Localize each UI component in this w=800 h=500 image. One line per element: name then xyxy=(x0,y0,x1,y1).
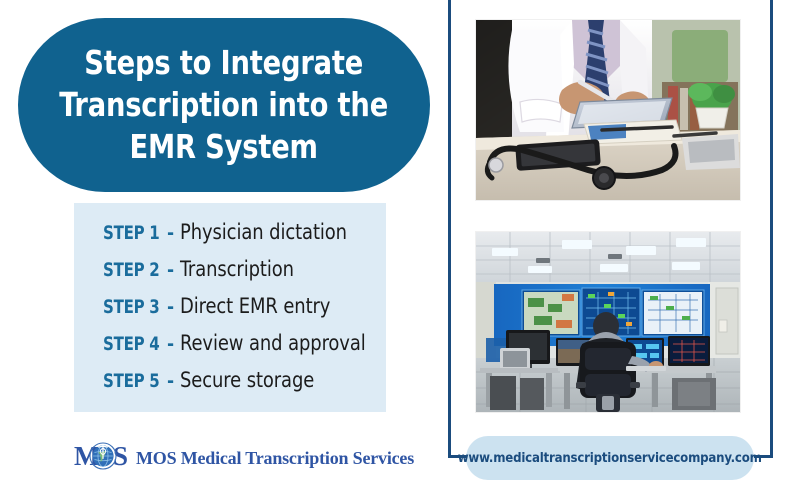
step-dash: - xyxy=(167,296,180,318)
steps-panel: STEP 1 - Physician dictation STEP 2 - Tr… xyxy=(74,203,386,412)
step-text: Review and approval xyxy=(180,331,366,355)
step-dash: - xyxy=(167,370,180,392)
brand-logo: M S MOS Medical Transcription Services xyxy=(74,440,414,476)
step-dash: - xyxy=(167,333,180,355)
step-text: Physician dictation xyxy=(180,220,347,244)
logo-name: MOS Medical Transcription Services xyxy=(136,448,414,469)
step-row: STEP 2 - Transcription xyxy=(103,257,386,294)
control-room-photo xyxy=(476,232,740,412)
frame-left-vertical-line xyxy=(448,0,451,458)
page-title: Steps to Integrate Transcription into th… xyxy=(60,42,389,169)
step-text: Secure storage xyxy=(180,368,314,392)
step-text: Direct EMR entry xyxy=(180,294,330,318)
step-row: STEP 1 - Physician dictation xyxy=(103,220,386,257)
frame-right-vertical-line xyxy=(770,0,773,458)
step-row: STEP 5 - Secure storage xyxy=(103,368,386,405)
doctor-with-tablet-photo xyxy=(476,20,740,200)
title-pill: Steps to Integrate Transcription into th… xyxy=(18,18,430,192)
step-dash: - xyxy=(167,222,180,244)
step-label: STEP 2 xyxy=(103,259,159,281)
step-label: STEP 5 xyxy=(103,370,159,392)
step-row: STEP 4 - Review and approval xyxy=(103,331,386,368)
step-label: STEP 4 xyxy=(103,333,159,355)
logo-mark: M S xyxy=(74,440,132,476)
website-url-pill[interactable]: www.medicaltranscriptionservicecompany.c… xyxy=(466,436,754,480)
step-label: STEP 3 xyxy=(103,296,159,318)
step-text: Transcription xyxy=(180,257,294,281)
step-label: STEP 1 xyxy=(103,222,159,244)
step-row: STEP 3 - Direct EMR entry xyxy=(103,294,386,331)
website-url-text: www.medicaltranscriptionservicecompany.c… xyxy=(458,450,762,466)
globe-caduceus-icon xyxy=(89,442,117,470)
step-dash: - xyxy=(167,259,180,281)
infographic-canvas: Steps to Integrate Transcription into th… xyxy=(0,0,800,500)
